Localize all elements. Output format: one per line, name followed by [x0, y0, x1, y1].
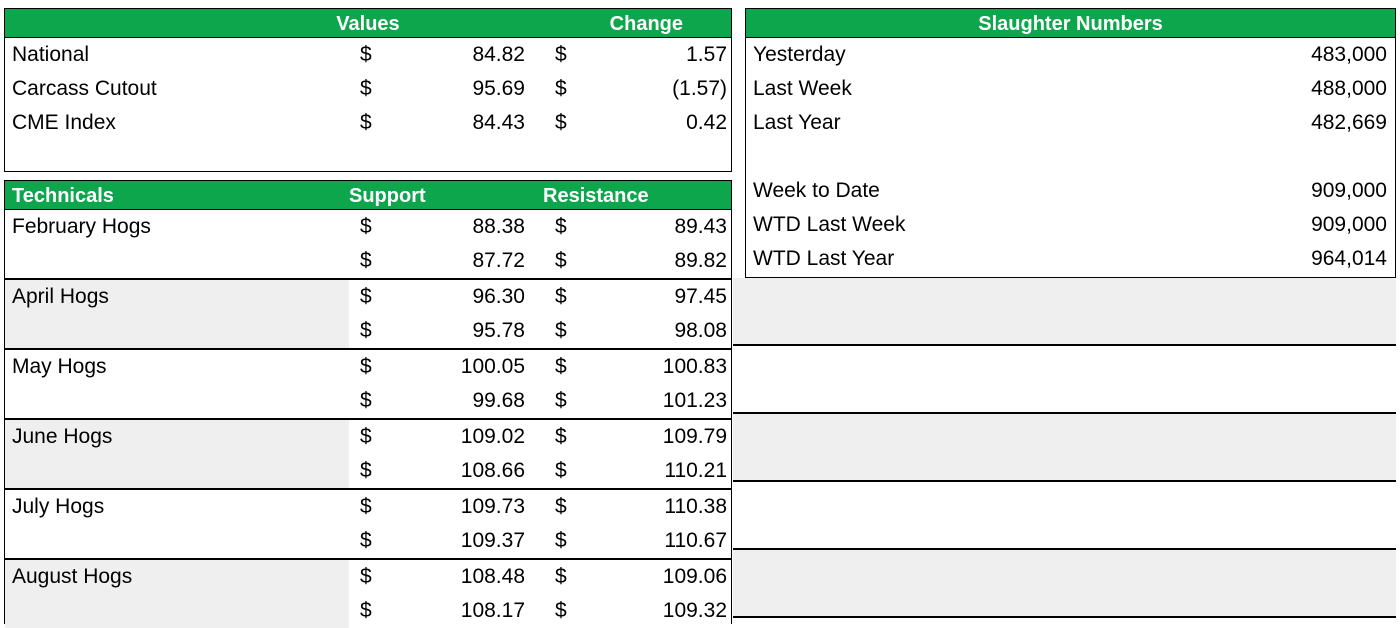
table-row: Last Year 482,669	[746, 106, 1395, 140]
values-row-change: 1.57	[565, 38, 727, 72]
table-row: CME Index $ 84.43 $ 0.42	[5, 106, 731, 140]
technicals-header-resistance: Resistance	[543, 181, 649, 211]
currency-symbol: $	[360, 420, 376, 454]
filler-block	[733, 414, 1396, 482]
resistance-value: 89.43	[565, 210, 727, 244]
table-row: June Hogs $ 109.02 $ 109.79	[5, 420, 731, 454]
filler-block	[733, 550, 1396, 618]
technicals-header-support: Support	[349, 181, 426, 211]
values-header-change: Change	[610, 9, 683, 39]
values-row-change: 0.42	[565, 106, 727, 140]
support-value: 108.66	[375, 454, 525, 488]
technicals-contract-label: February Hogs	[12, 210, 151, 244]
technicals-group: June Hogs $ 109.02 $ 109.79 $ 108.66 $ 1…	[5, 420, 731, 490]
values-row-label: National	[12, 38, 89, 72]
support-value: 99.68	[375, 384, 525, 418]
table-row: $ 108.17 $ 109.32	[5, 594, 731, 628]
support-value: 108.48	[375, 560, 525, 594]
values-row-value: 84.43	[375, 106, 525, 140]
table-row: $ 108.66 $ 110.21	[5, 454, 731, 488]
technicals-contract-label: April Hogs	[12, 280, 109, 314]
technicals-group: July Hogs $ 109.73 $ 110.38 $ 109.37 $ 1…	[5, 490, 731, 560]
values-table-body: National $ 84.82 $ 1.57 Carcass Cutout $…	[4, 38, 732, 172]
slaughter-row-value: 909,000	[1087, 174, 1387, 208]
values-row-value: 95.69	[375, 72, 525, 106]
table-row: WTD Last Year 964,014	[746, 242, 1395, 276]
support-value: 96.30	[375, 280, 525, 314]
table-row: $ 95.78 $ 98.08	[5, 314, 731, 348]
resistance-value: 109.32	[565, 594, 727, 628]
currency-symbol: $	[360, 560, 376, 594]
technicals-header-title: Technicals	[12, 181, 114, 211]
table-row: $ 99.68 $ 101.23	[5, 384, 731, 418]
hog-market-report-sheet: Values Change National $ 84.82 $ 1.57 Ca…	[0, 0, 1400, 628]
technicals-group: May Hogs $ 100.05 $ 100.83 $ 99.68 $ 101…	[5, 350, 731, 420]
support-value: 88.38	[375, 210, 525, 244]
slaughter-numbers-panel: Slaughter Numbers Yesterday 483,000 Last…	[745, 8, 1396, 278]
values-row-value: 84.82	[375, 38, 525, 72]
slaughter-table-body: Yesterday 483,000 Last Week 488,000 Last…	[745, 38, 1396, 278]
support-value: 100.05	[375, 350, 525, 384]
resistance-value: 110.67	[565, 524, 727, 558]
slaughter-header: Slaughter Numbers	[745, 8, 1396, 38]
currency-symbol: $	[360, 384, 376, 418]
slaughter-row-value: 909,000	[1087, 208, 1387, 242]
support-value: 109.73	[375, 490, 525, 524]
right-filler-column	[733, 278, 1396, 622]
resistance-value: 100.83	[565, 350, 727, 384]
slaughter-header-title: Slaughter Numbers	[746, 9, 1395, 39]
currency-symbol: $	[360, 454, 376, 488]
support-value: 109.37	[375, 524, 525, 558]
technicals-panel: Technicals Support Resistance February H…	[4, 180, 732, 624]
table-row: April Hogs $ 96.30 $ 97.45	[5, 280, 731, 314]
table-row: Yesterday 483,000	[746, 38, 1395, 72]
table-row: Last Week 488,000	[746, 72, 1395, 106]
slaughter-row-value: 964,014	[1087, 242, 1387, 276]
slaughter-row-value: 483,000	[1087, 38, 1387, 72]
table-row: May Hogs $ 100.05 $ 100.83	[5, 350, 731, 384]
values-header: Values Change	[4, 8, 732, 38]
values-panel: Values Change National $ 84.82 $ 1.57 Ca…	[4, 8, 732, 172]
resistance-value: 97.45	[565, 280, 727, 314]
table-row: Week to Date 909,000	[746, 174, 1395, 208]
table-row: July Hogs $ 109.73 $ 110.38	[5, 490, 731, 524]
resistance-value: 98.08	[565, 314, 727, 348]
values-row-label: Carcass Cutout	[12, 72, 157, 106]
support-value: 108.17	[375, 594, 525, 628]
slaughter-row-label: Last Week	[753, 72, 852, 106]
support-value: 87.72	[375, 244, 525, 278]
table-row: Carcass Cutout $ 95.69 $ (1.57)	[5, 72, 731, 106]
currency-symbol: $	[360, 490, 376, 524]
slaughter-row-label: WTD Last Year	[753, 242, 894, 276]
resistance-value: 89.82	[565, 244, 727, 278]
currency-symbol: $	[360, 72, 376, 106]
resistance-value: 110.21	[565, 454, 727, 488]
slaughter-row-label: Yesterday	[753, 38, 846, 72]
technicals-contract-label: May Hogs	[12, 350, 107, 384]
table-row: $ 87.72 $ 89.82	[5, 244, 731, 278]
resistance-value: 110.38	[565, 490, 727, 524]
values-row-label: CME Index	[12, 106, 116, 140]
technicals-header: Technicals Support Resistance	[4, 180, 732, 210]
table-row: National $ 84.82 $ 1.57	[5, 38, 731, 72]
resistance-value: 101.23	[565, 384, 727, 418]
filler-block	[733, 346, 1396, 414]
technicals-contract-label: June Hogs	[12, 420, 112, 454]
filler-block	[733, 278, 1396, 346]
currency-symbol: $	[360, 38, 376, 72]
slaughter-row-label: Last Year	[753, 106, 841, 140]
technicals-group: February Hogs $ 88.38 $ 89.43 $ 87.72 $ …	[5, 210, 731, 280]
table-row: February Hogs $ 88.38 $ 89.43	[5, 210, 731, 244]
currency-symbol: $	[360, 524, 376, 558]
slaughter-row-value: 482,669	[1087, 106, 1387, 140]
slaughter-row-label: WTD Last Week	[753, 208, 905, 242]
resistance-value: 109.06	[565, 560, 727, 594]
technicals-contract-label: August Hogs	[12, 560, 132, 594]
support-value: 109.02	[375, 420, 525, 454]
currency-symbol: $	[360, 244, 376, 278]
support-value: 95.78	[375, 314, 525, 348]
technicals-table-body: February Hogs $ 88.38 $ 89.43 $ 87.72 $ …	[4, 210, 732, 624]
currency-symbol: $	[360, 106, 376, 140]
slaughter-row-value: 488,000	[1087, 72, 1387, 106]
table-row: WTD Last Week 909,000	[746, 208, 1395, 242]
currency-symbol: $	[360, 314, 376, 348]
currency-symbol: $	[360, 594, 376, 628]
table-row: August Hogs $ 108.48 $ 109.06	[5, 560, 731, 594]
technicals-group: August Hogs $ 108.48 $ 109.06 $ 108.17 $…	[5, 560, 731, 628]
slaughter-row-label: Week to Date	[753, 174, 880, 208]
filler-block	[733, 482, 1396, 550]
technicals-contract-label: July Hogs	[12, 490, 104, 524]
values-row-change: (1.57)	[565, 72, 727, 106]
table-row: $ 109.37 $ 110.67	[5, 524, 731, 558]
resistance-value: 109.79	[565, 420, 727, 454]
technicals-group: April Hogs $ 96.30 $ 97.45 $ 95.78 $ 98.…	[5, 280, 731, 350]
currency-symbol: $	[360, 210, 376, 244]
currency-symbol: $	[360, 350, 376, 384]
currency-symbol: $	[360, 280, 376, 314]
spacer-row	[746, 140, 1395, 174]
